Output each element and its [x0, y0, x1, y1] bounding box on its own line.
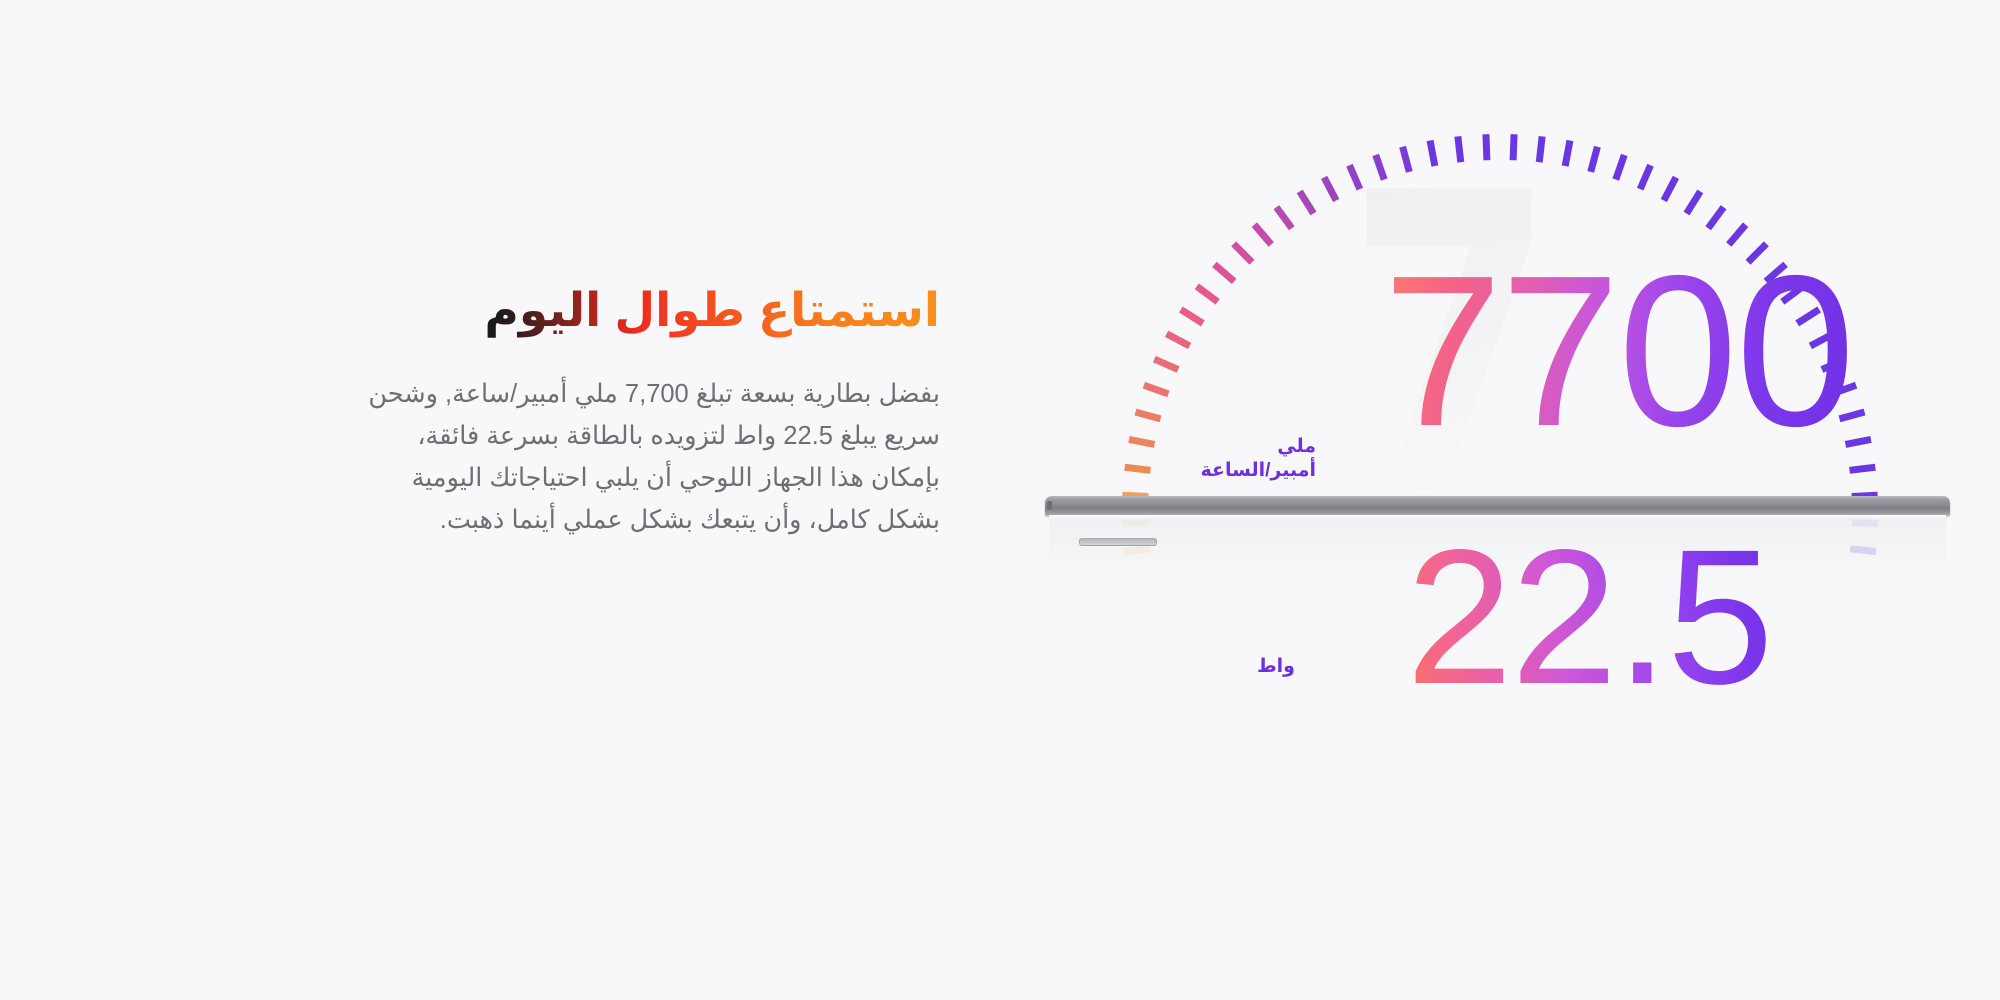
- gauge-tick: [1197, 286, 1218, 302]
- body-paragraph: بفضل بطارية بسعة تبلغ 7,700 ملي أمبير/سا…: [360, 374, 940, 541]
- gauge-tick: [1616, 155, 1625, 180]
- gauge-tick: [1154, 359, 1178, 370]
- capacity-unit-line-1: ملي: [1116, 435, 1316, 459]
- copy-block: استمتاع طوال اليوم بفضل بطارية بسعة تبلغ…: [140, 280, 940, 541]
- battery-visual: 7700 ملي أمبير/الساعة 22.5 واط: [1000, 0, 2000, 1000]
- gauge-tick: [1640, 165, 1650, 189]
- gauge-tick: [1664, 177, 1676, 200]
- page-title: استمتاع طوال اليوم: [140, 280, 940, 344]
- gauge-tick: [1565, 141, 1570, 167]
- gauge-tick: [1850, 467, 1876, 470]
- gauge-tick: [1458, 136, 1461, 162]
- gauge-tick: [1135, 412, 1160, 419]
- gauge-tick: [1214, 264, 1234, 281]
- capacity-unit-line-2: أمبير/الساعة: [1116, 459, 1316, 483]
- page-root: استمتاع طوال اليوم بفضل بطارية بسعة تبلغ…: [0, 0, 2000, 1000]
- gauge-tick: [1376, 155, 1385, 180]
- gauge-tick: [1708, 207, 1723, 228]
- gauge-tick: [1486, 134, 1487, 160]
- gauge-tick: [1167, 334, 1190, 346]
- capacity-unit-label: ملي أمبير/الساعة: [1116, 435, 1316, 484]
- capacity-value: 7700: [1383, 243, 1853, 458]
- gauge-tick: [1513, 134, 1514, 160]
- tablet-camera-bar: [1079, 538, 1157, 546]
- gauge-tick: [1144, 385, 1169, 394]
- gauge-tick: [1687, 191, 1701, 213]
- gauge-tick: [1300, 191, 1314, 213]
- gauge-tick: [1430, 141, 1435, 167]
- gauge-tick: [1234, 244, 1252, 262]
- gauge-tick: [1539, 136, 1542, 162]
- gauge-tick: [1276, 207, 1291, 228]
- charging-unit-label: واط: [1175, 655, 1295, 679]
- gauge-tick: [1591, 147, 1598, 172]
- charging-value: 22.5: [1406, 521, 1772, 713]
- gauge-tick: [1324, 177, 1336, 200]
- gauge-tick: [1181, 309, 1203, 323]
- gauge-tick: [1254, 225, 1271, 245]
- gauge-tick: [1403, 147, 1410, 172]
- gauge-tick: [1349, 165, 1359, 189]
